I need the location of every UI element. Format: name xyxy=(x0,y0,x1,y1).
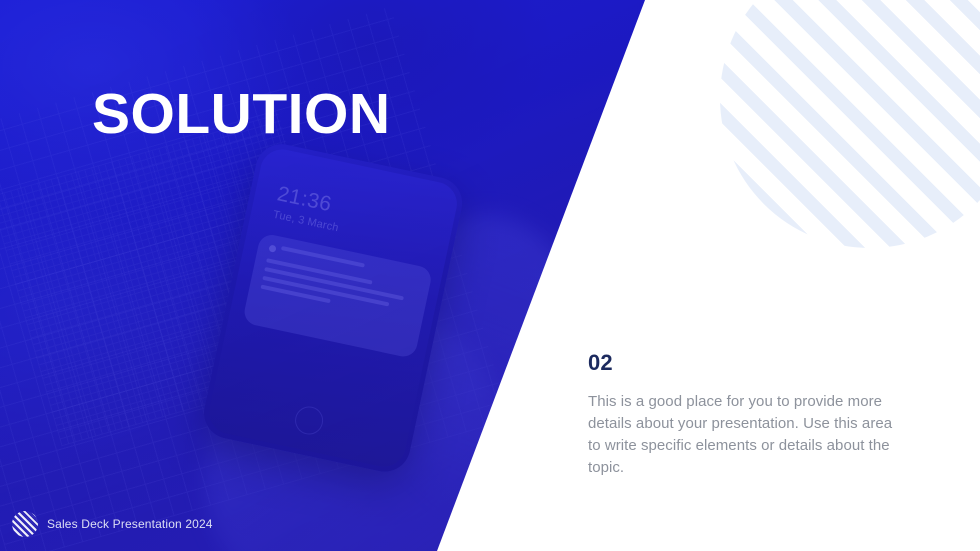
section-number: 02 xyxy=(588,352,906,374)
content-block: 02 This is a good place for you to provi… xyxy=(588,352,906,479)
blue-diagonal-panel: 21:36 Tue, 3 March xyxy=(0,0,660,551)
presentation-slide: 21:36 Tue, 3 March xyxy=(0,0,980,551)
stripes-pattern xyxy=(720,0,980,248)
page-title: SOLUTION xyxy=(92,86,391,143)
footer-caption: Sales Deck Presentation 2024 xyxy=(47,517,213,531)
striped-circle-logo-icon xyxy=(12,511,38,537)
diagonal-stripes-decoration xyxy=(720,0,980,248)
logo-stripes xyxy=(12,511,38,537)
section-body-text: This is a good place for you to provide … xyxy=(588,391,906,479)
slide-footer: Sales Deck Presentation 2024 xyxy=(12,511,213,537)
